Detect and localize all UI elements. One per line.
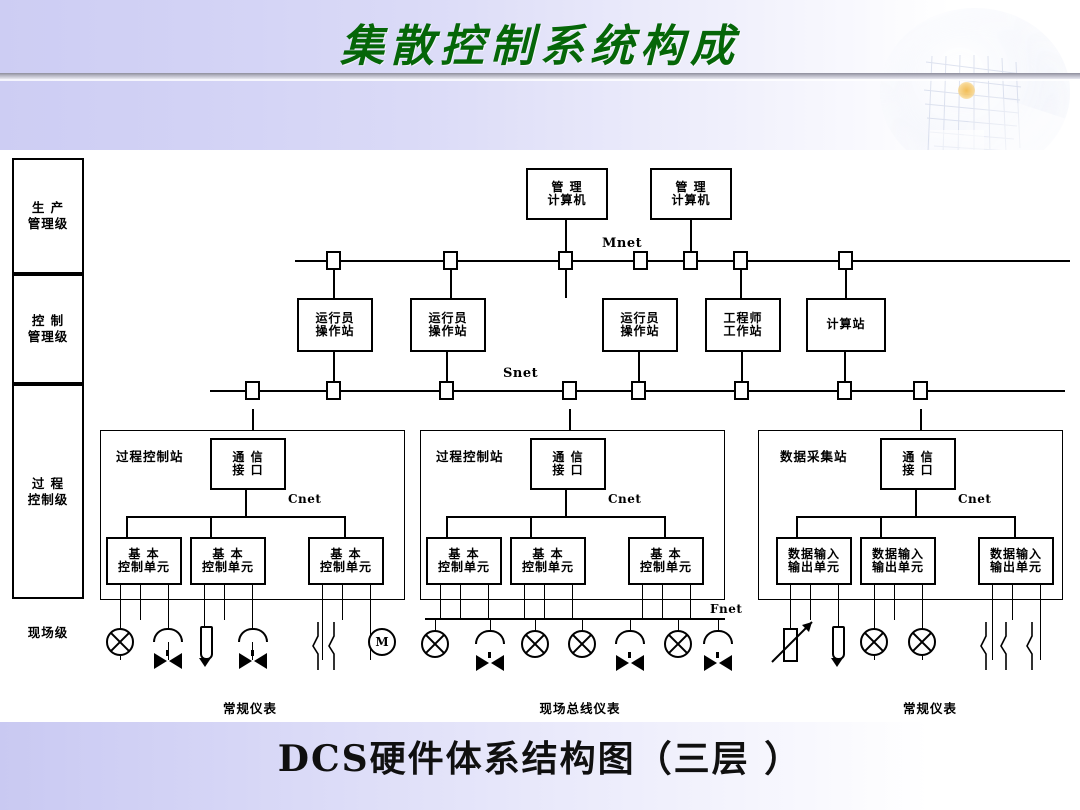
box-label-line1: 数据输入 — [872, 548, 924, 561]
bcu-drop — [642, 585, 643, 620]
compute-station[interactable]: 计算站 — [806, 298, 886, 352]
box-label-line1: 运行员 — [315, 312, 354, 325]
mnet-node[interactable] — [326, 251, 341, 270]
mnet-drop-to-operator-1 — [450, 270, 452, 298]
level-block-process: 过 程 控制级 — [12, 384, 84, 599]
compute-station-drop — [844, 352, 846, 382]
mnet-drop-to-engineer — [845, 270, 847, 298]
cnet-label-1: Cnet — [288, 492, 321, 506]
bcu-drop — [544, 585, 545, 620]
box-label-line1: 运行员 — [428, 312, 467, 325]
box-label-line2: 计算机 — [547, 194, 586, 207]
control-valve-icon — [474, 652, 506, 674]
management-computer-1-drop — [565, 220, 567, 252]
comm-interface-1[interactable]: 通 信 接 口 — [210, 438, 286, 490]
snet-label: Snet — [503, 366, 538, 381]
box-label-line2: 工作站 — [723, 325, 762, 338]
comm-interface-3[interactable]: 通 信 接 口 — [880, 438, 956, 490]
box-label-line2: 输出单元 — [990, 561, 1042, 574]
field-level-label: 现场级 — [12, 622, 84, 641]
page-title: 集散控制系统构成 — [0, 10, 1080, 74]
box-label-line2: 接 口 — [902, 464, 933, 477]
title-divider-highlight — [0, 79, 1080, 81]
level-block-control: 控 制 管理级 — [12, 274, 84, 384]
motor-icon: M — [368, 628, 396, 656]
box-label-line1: 计算站 — [826, 318, 865, 331]
cnet-branch-3a — [796, 516, 798, 538]
box-label-line2: 计算机 — [671, 194, 710, 207]
basic-control-unit-1a[interactable]: 基 本 控制单元 — [106, 537, 182, 585]
basic-control-unit-1c[interactable]: 基 本 控制单元 — [308, 537, 384, 585]
slide-root: 集散控制系统构成 生 产 管理级 控 制 管理级 过 程 控制级 现场级 Mne… — [0, 0, 1080, 810]
box-label-line1: 基 本 — [532, 548, 563, 561]
control-valve-icon — [237, 650, 269, 672]
cnet-bus-1 — [126, 516, 346, 518]
data-acquisition-station-title: 数据采集站 — [780, 446, 848, 465]
gold-dot-decoration-icon — [958, 82, 975, 99]
figure-caption: DCS硬件体系结构图（三层 ） — [0, 730, 1080, 782]
box-label-line2: 输出单元 — [788, 561, 840, 574]
title-bar: 集散控制系统构成 — [0, 0, 1080, 78]
data-io-unit-1[interactable]: 数据输入 输出单元 — [776, 537, 852, 585]
control-valve-icon — [702, 652, 734, 674]
break-lines-icon — [312, 622, 348, 670]
box-label-line1: 数据输入 — [990, 548, 1042, 561]
instrument-group-label-2: 现场总线仪表 — [470, 698, 690, 717]
bcu-drop — [488, 585, 489, 620]
level-label-line2: 控制级 — [28, 492, 69, 508]
level-block-production: 生 产 管理级 — [12, 158, 84, 274]
flow-meter-icon — [664, 630, 692, 658]
box-label-line1: 通 信 — [902, 451, 933, 464]
bcu-drop — [252, 585, 253, 660]
bcu-drop — [460, 585, 461, 620]
box-label-line1: 管 理 — [675, 181, 706, 194]
valve-actuator-icon — [153, 628, 183, 642]
cnet-label-3: Cnet — [958, 492, 991, 506]
process-control-station-1-title: 过程控制站 — [116, 446, 184, 465]
cnet-bus-2 — [446, 516, 666, 518]
comm-interface-1-drop — [245, 490, 247, 517]
basic-control-unit-1b[interactable]: 基 本 控制单元 — [190, 537, 266, 585]
bcu-drop — [224, 585, 225, 620]
comm-interface-3-drop — [915, 490, 917, 517]
process-control-station-2-title: 过程控制站 — [436, 446, 504, 465]
thermowell-icon — [200, 626, 213, 660]
dio-drop — [1012, 585, 1013, 620]
mnet-label: Mnet — [602, 236, 642, 251]
bcu-drop — [140, 585, 141, 620]
bcu-drop — [524, 585, 525, 620]
bcu-drop — [440, 585, 441, 620]
management-computer-2-drop — [690, 220, 692, 252]
snet-node[interactable] — [326, 381, 341, 400]
snet-node[interactable] — [734, 381, 749, 400]
control-valve-icon — [614, 652, 646, 674]
flow-meter-icon — [106, 628, 134, 656]
cnet-branch-2b — [530, 516, 532, 538]
bcu-drop — [342, 585, 343, 620]
box-label-line1: 工程师 — [723, 312, 762, 325]
control-valve-icon — [152, 650, 184, 672]
box-label-line2: 控制单元 — [438, 561, 490, 574]
box-label-line1: 运行员 — [620, 312, 659, 325]
operator-station-3[interactable]: 运行员 操作站 — [602, 298, 678, 352]
bcu-drop — [572, 585, 573, 620]
flow-meter-icon — [908, 628, 936, 656]
box-label-line2: 操作站 — [620, 325, 659, 338]
cnet-branch-3c — [1014, 516, 1016, 538]
valve-actuator-icon — [475, 630, 505, 644]
thermowell-tip-icon — [831, 658, 843, 667]
basic-control-unit-2c[interactable]: 基 本 控制单元 — [628, 537, 704, 585]
level-label-line2: 管理级 — [28, 216, 69, 232]
level-label-line2: 管理级 — [28, 329, 69, 345]
box-label-line2: 控制单元 — [202, 561, 254, 574]
snet-node[interactable] — [631, 381, 646, 400]
snet-node[interactable] — [913, 381, 928, 400]
box-label-line2: 控制单元 — [118, 561, 170, 574]
thermowell-icon — [832, 626, 845, 660]
mnet-drop-to-operator-2 — [565, 270, 567, 298]
flow-meter-icon — [568, 630, 596, 658]
comm-interface-2[interactable]: 通 信 接 口 — [530, 438, 606, 490]
valve-actuator-icon — [238, 628, 268, 642]
instrument-group-label-1: 常规仪表 — [150, 698, 350, 717]
basic-control-unit-2b[interactable]: 基 本 控制单元 — [510, 537, 586, 585]
snet-node[interactable] — [439, 381, 454, 400]
snet-drop-station-2 — [569, 409, 571, 430]
dio-drop — [894, 585, 895, 620]
fnet-bus-line — [425, 618, 725, 620]
bcu-drop — [662, 585, 663, 620]
mnet-node[interactable] — [733, 251, 748, 270]
comm-interface-2-drop — [565, 490, 567, 517]
box-label-line2: 操作站 — [315, 325, 354, 338]
box-label-line1: 数据输入 — [788, 548, 840, 561]
snet-node[interactable] — [245, 381, 260, 400]
box-label-line2: 控制单元 — [320, 561, 372, 574]
basic-control-unit-2a[interactable]: 基 本 控制单元 — [426, 537, 502, 585]
mnet-node[interactable] — [443, 251, 458, 270]
mnet-node[interactable] — [838, 251, 853, 270]
cnet-branch-2c — [664, 516, 666, 538]
box-label-line2: 操作站 — [428, 325, 467, 338]
box-label-line2: 控制单元 — [522, 561, 574, 574]
level-label-line1: 控 制 — [32, 313, 64, 329]
data-io-unit-3[interactable]: 数据输入 输出单元 — [978, 537, 1054, 585]
box-label-line1: 基 本 — [128, 548, 159, 561]
mnet-drop-to-operator-3 — [740, 270, 742, 298]
engineer-drop — [741, 352, 743, 382]
cnet-branch-1b — [210, 516, 212, 538]
operator-station-2[interactable]: 运行员 操作站 — [410, 298, 486, 352]
operator-station-1[interactable]: 运行员 操作站 — [297, 298, 373, 352]
box-label-line2: 接 口 — [232, 464, 263, 477]
cnet-bus-3 — [796, 516, 1016, 518]
box-label-line2: 输出单元 — [872, 561, 924, 574]
cnet-label-2: Cnet — [608, 492, 641, 506]
cnet-branch-3b — [880, 516, 882, 538]
valve-actuator-icon — [615, 630, 645, 644]
operator-3-drop — [638, 352, 640, 382]
box-label-line1: 通 信 — [232, 451, 263, 464]
instrument-group-label-3: 常规仪表 — [830, 698, 1030, 717]
level-label-line1: 生 产 — [32, 200, 64, 216]
box-label-line1: 基 本 — [650, 548, 681, 561]
box-label-line1: 通 信 — [552, 451, 583, 464]
management-computer-2[interactable]: 管 理 计算机 — [650, 168, 732, 220]
box-label-line2: 接 口 — [552, 464, 583, 477]
snet-node[interactable] — [562, 381, 577, 400]
bcu-drop — [690, 585, 691, 620]
thermowell-tip-icon — [199, 658, 211, 667]
dcs-architecture-diagram: 生 产 管理级 控 制 管理级 过 程 控制级 现场级 Mnet 管 理 计算机… — [90, 150, 1080, 720]
flow-meter-icon — [860, 628, 888, 656]
box-label-line1: 基 本 — [330, 548, 361, 561]
mnet-node[interactable] — [683, 251, 698, 270]
box-label-line1: 管 理 — [551, 181, 582, 194]
variable-sensor-arrow-icon — [768, 612, 824, 668]
snet-drop-station-1 — [252, 409, 254, 430]
box-label-line1: 基 本 — [448, 548, 479, 561]
cnet-branch-1a — [126, 516, 128, 538]
snet-node[interactable] — [837, 381, 852, 400]
operator-2-drop — [446, 352, 448, 382]
fnet-label: Fnet — [710, 602, 742, 616]
management-computer-1[interactable]: 管 理 计算机 — [526, 168, 608, 220]
bcu-drop — [168, 585, 169, 660]
mnet-node[interactable] — [558, 251, 573, 270]
mnet-node[interactable] — [633, 251, 648, 270]
box-label-line2: 控制单元 — [640, 561, 692, 574]
cnet-branch-2a — [446, 516, 448, 538]
level-label-line1: 过 程 — [32, 476, 64, 492]
mnet-drop-left — [333, 270, 335, 298]
operator-1-drop — [333, 352, 335, 382]
box-label-line1: 基 本 — [212, 548, 243, 561]
engineer-workstation[interactable]: 工程师 工作站 — [705, 298, 781, 352]
data-io-unit-2[interactable]: 数据输入 输出单元 — [860, 537, 936, 585]
flow-meter-icon — [421, 630, 449, 658]
break-lines-icon — [980, 622, 1050, 670]
valve-actuator-icon — [703, 630, 733, 644]
snet-drop-station-3 — [920, 409, 922, 430]
flow-meter-icon — [521, 630, 549, 658]
cnet-branch-1c — [344, 516, 346, 538]
